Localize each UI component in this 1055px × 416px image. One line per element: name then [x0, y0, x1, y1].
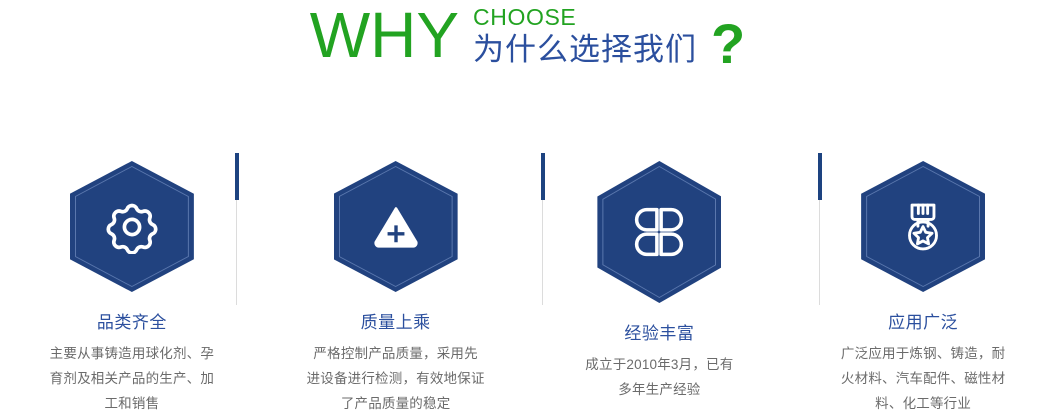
hexagon-badge	[861, 161, 985, 292]
card-title: 经验丰富	[624, 323, 694, 345]
card-description: 成立于2010年3月，已有 多年生产经验	[557, 352, 762, 402]
card-title: 质量上乘	[361, 312, 431, 334]
divider-gray-segment	[236, 200, 237, 305]
card-title: 应用广泛	[888, 312, 958, 334]
card-description-line: 广泛应用于炼钢、铸造，耐	[821, 341, 1026, 366]
feature-card: 品类齐全 主要从事铸造用球化剂、孕 育剂及相关产品的生产、加 工和销售	[0, 150, 264, 416]
card-description-line: 多年生产经验	[557, 377, 762, 402]
divider-3	[818, 153, 822, 305]
card-description-line: 了产品质量的稳定	[293, 391, 498, 416]
hexagon-badge	[597, 161, 721, 303]
divider-blue-segment	[541, 153, 545, 200]
card-description-line: 进设备进行检测，有效地保证	[293, 366, 498, 391]
header-inner: WHY CHOOSE 为什么选择我们 ?	[310, 2, 746, 74]
card-description: 广泛应用于炼钢、铸造，耐 火材料、汽车配件、磁性材 料、化工等行业	[821, 341, 1026, 416]
heading-chinese-subtitle: 为什么选择我们	[473, 31, 697, 69]
card-description-line: 育剂及相关产品的生产、加	[29, 366, 234, 391]
heading-text-stack: CHOOSE 为什么选择我们	[473, 2, 697, 69]
feature-card: 应用广泛 广泛应用于炼钢、铸造，耐 火材料、汽车配件、磁性材 料、化工等行业	[791, 150, 1055, 416]
card-description-line: 料、化工等行业	[821, 391, 1026, 416]
divider-2	[541, 153, 545, 305]
divider-blue-segment	[235, 153, 239, 200]
divider-gray-segment	[819, 200, 820, 305]
why-choose-us-section: WHY CHOOSE 为什么选择我们 ? 品类齐全	[0, 0, 1055, 416]
hexagon-badge	[70, 161, 194, 292]
heading-choose: CHOOSE	[473, 4, 576, 30]
hexagon-badge	[334, 161, 458, 292]
section-header: WHY CHOOSE 为什么选择我们 ?	[0, 0, 1055, 100]
card-description-line: 成立于2010年3月，已有	[557, 352, 762, 377]
gear-icon	[105, 200, 159, 254]
card-title: 品类齐全	[97, 312, 167, 334]
divider-blue-segment	[818, 153, 822, 200]
triangle-plus-icon	[369, 200, 423, 254]
card-description-line: 工和销售	[29, 391, 234, 416]
heading-why: WHY	[310, 2, 459, 68]
feature-card: 质量上乘 严格控制产品质量，采用先 进设备进行检测，有效地保证 了产品质量的稳定	[264, 150, 528, 416]
divider-1	[235, 153, 239, 305]
card-description: 严格控制产品质量，采用先 进设备进行检测，有效地保证 了产品质量的稳定	[293, 341, 498, 416]
card-description-line: 火材料、汽车配件、磁性材	[821, 366, 1026, 391]
heading-question-mark: ?	[711, 2, 745, 74]
divider-gray-segment	[542, 200, 543, 305]
clover-icon	[632, 205, 686, 259]
card-description-line: 严格控制产品质量，采用先	[293, 341, 498, 366]
medal-icon	[896, 200, 950, 254]
feature-card: 经验丰富 成立于2010年3月，已有 多年生产经验	[528, 150, 792, 416]
feature-card-list: 品类齐全 主要从事铸造用球化剂、孕 育剂及相关产品的生产、加 工和销售 质量上乘…	[0, 150, 1055, 416]
card-description-line: 主要从事铸造用球化剂、孕	[29, 341, 234, 366]
card-description: 主要从事铸造用球化剂、孕 育剂及相关产品的生产、加 工和销售	[29, 341, 234, 416]
